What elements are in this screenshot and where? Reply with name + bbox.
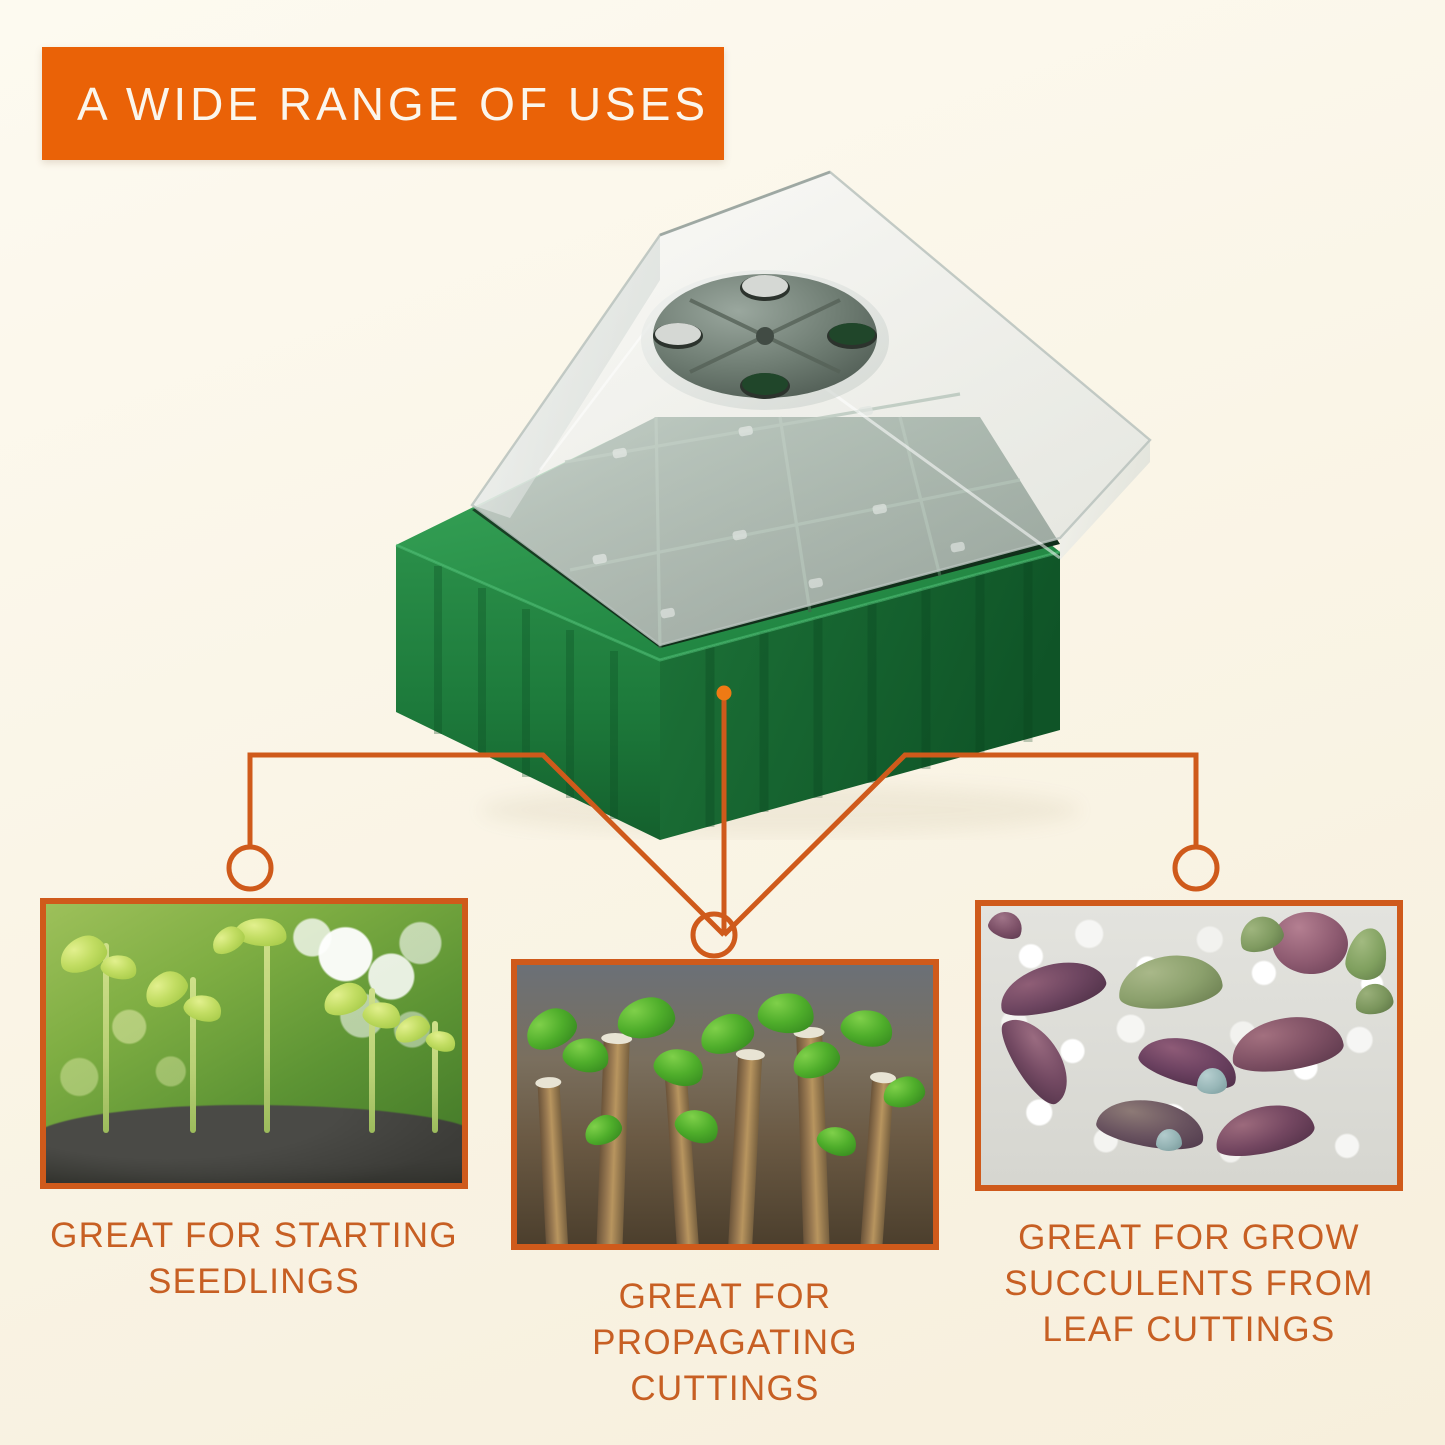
seedling-5 <box>404 1021 462 1133</box>
caption-succulents-line-3: LEAF CUTTINGS <box>975 1307 1403 1353</box>
use-case-panel-seedlings: GREAT FOR STARTING SEEDLINGS <box>40 898 468 1305</box>
vent-hole-left-face <box>655 323 701 345</box>
product-image-seed-starter-tray <box>360 140 1180 840</box>
photo-frame-cuttings <box>511 959 939 1250</box>
vent-hole-right-face <box>829 323 875 345</box>
succulent-leaf-5 <box>1228 1010 1346 1077</box>
succulent-leaf-8 <box>1270 909 1350 976</box>
cutting-leaf-9 <box>838 1004 897 1052</box>
seedling-4 <box>337 988 407 1133</box>
caption-cuttings-line-2: CUTTINGS <box>511 1366 939 1412</box>
cutting-stem-1 <box>537 1082 568 1244</box>
succulent-sprout-6 <box>1156 1129 1182 1151</box>
marker-cuttings <box>693 914 735 956</box>
succulent-sprout-4 <box>986 907 1027 943</box>
cutting-stem-4 <box>728 1054 762 1244</box>
seedling-3 <box>229 926 305 1132</box>
seedling-1 <box>71 943 141 1133</box>
succulent-leaf-3 <box>1116 951 1225 1014</box>
dome-vent-cap <box>641 270 889 410</box>
caption-succulents-line-2: SUCCULENTS FROM <box>975 1261 1403 1307</box>
caption-seedlings-line-1: GREAT FOR STARTING <box>40 1213 468 1259</box>
succulent-leaf-7 <box>1210 1097 1317 1163</box>
page-title: A WIDE RANGE OF USES <box>77 77 709 131</box>
vent-hole-top-face <box>742 275 788 297</box>
marker-succulents <box>1175 847 1217 889</box>
caption-succulents: GREAT FOR GROW SUCCULENTS FROM LEAF CUTT… <box>975 1215 1403 1354</box>
marker-seedlings <box>229 847 271 889</box>
photo-succulent-leaves-on-white-perlite <box>981 906 1397 1185</box>
photo-green-seedlings-in-dark-soil <box>46 904 462 1183</box>
use-case-panel-cuttings: GREAT FOR PROPAGATING CUTTINGS <box>511 959 939 1413</box>
caption-seedlings: GREAT FOR STARTING SEEDLINGS <box>40 1213 468 1305</box>
succulent-leaf-1 <box>994 952 1110 1023</box>
vent-hole-bottom-face <box>742 373 788 395</box>
vent-center-hub <box>756 327 774 345</box>
cutting-leaf-4 <box>650 1042 709 1092</box>
succulent-leaf-2 <box>993 1007 1081 1112</box>
succulent-sprout-3 <box>1353 982 1395 1017</box>
cutting-stem-3 <box>665 1070 700 1244</box>
photo-frame-succulents <box>975 900 1403 1191</box>
caption-seedlings-line-2: SEEDLINGS <box>40 1259 468 1305</box>
caption-succulents-line-1: GREAT FOR GROW <box>975 1215 1403 1261</box>
seedling-2 <box>158 977 228 1133</box>
use-case-panel-succulents: GREAT FOR GROW SUCCULENTS FROM LEAF CUTT… <box>975 900 1403 1354</box>
succulent-sprout-5 <box>1197 1068 1227 1094</box>
caption-cuttings-line-1: GREAT FOR PROPAGATING <box>511 1274 939 1366</box>
photo-woody-stem-cuttings-sprouting-leaves <box>517 965 933 1244</box>
infographic-stage: A WIDE RANGE OF USES <box>0 0 1445 1445</box>
photo-frame-seedlings <box>40 898 468 1189</box>
succulent-leaf-6 <box>1094 1092 1208 1156</box>
succulent-sprout-2 <box>1343 925 1391 983</box>
caption-cuttings: GREAT FOR PROPAGATING CUTTINGS <box>511 1274 939 1413</box>
